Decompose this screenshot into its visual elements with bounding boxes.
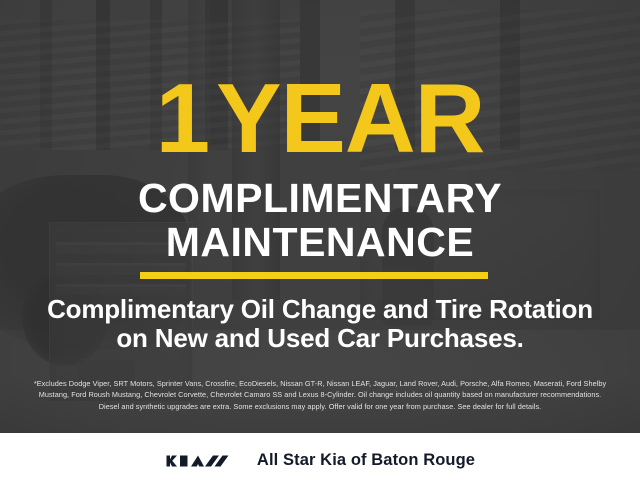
headline-word: YEAR — [216, 63, 484, 173]
yellow-divider — [140, 272, 488, 279]
subhead-maintenance: MAINTENANCE — [0, 222, 640, 263]
disclaimer-line-2: Mustang, Ford Roush Mustang, Chevrolet C… — [14, 389, 626, 400]
disclaimer-line-1: *Excludes Dodge Viper, SRT Motors, Sprin… — [14, 378, 626, 389]
hero-section: 1YEAR COMPLIMENTARY MAINTENANCE Complime… — [0, 0, 640, 433]
hero-copy: 1YEAR COMPLIMENTARY MAINTENANCE Complime… — [0, 0, 640, 433]
disclaimer-text: *Excludes Dodge Viper, SRT Motors, Sprin… — [14, 378, 626, 412]
subhead-complimentary: COMPLIMENTARY — [0, 178, 640, 219]
promotional-banner: 1YEAR COMPLIMENTARY MAINTENANCE Complime… — [0, 0, 640, 488]
offer-line-2: on New and Used Car Purchases. — [0, 323, 640, 353]
dealer-name: All Star Kia of Baton Rouge — [257, 451, 475, 470]
kia-logo-icon — [165, 450, 237, 472]
offer-line-1: Complimentary Oil Change and Tire Rotati… — [0, 294, 640, 324]
headline-1-year: 1YEAR — [0, 69, 640, 167]
disclaimer-line-3: Diesel and synthetic upgrades are extra.… — [14, 401, 626, 412]
footer-bar: All Star Kia of Baton Rouge — [0, 433, 640, 488]
headline-digit: 1 — [156, 63, 217, 173]
